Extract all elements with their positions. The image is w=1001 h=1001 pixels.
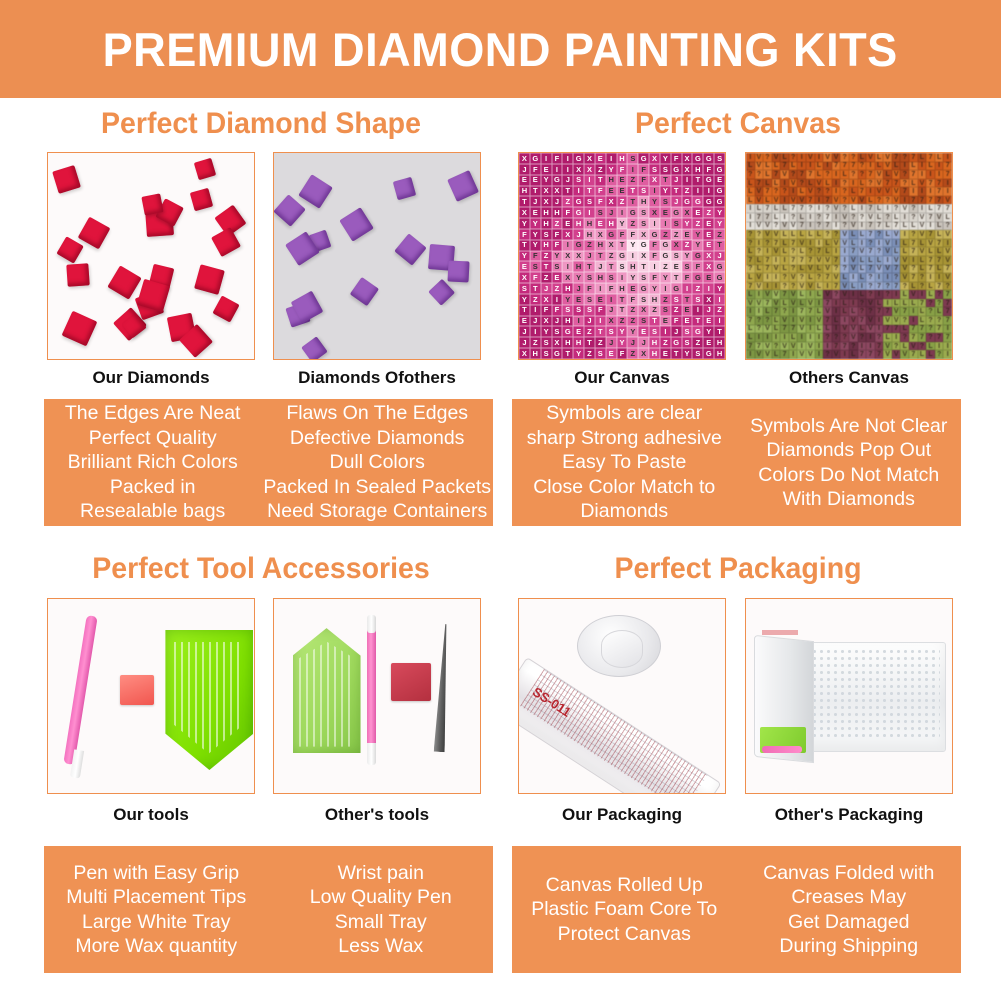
canvas-symbol-cell: H xyxy=(541,207,552,218)
canvas-symbol-cell: E xyxy=(714,175,725,186)
canvas-symbol-cell: E xyxy=(703,229,714,240)
canvas-symbol-cell: 7 xyxy=(900,187,909,196)
canvas-symbol-cell: H xyxy=(584,229,595,240)
canvas-symbol-cell: F xyxy=(530,272,541,283)
canvas-symbol-cell: ? xyxy=(806,247,815,256)
canvas-symbol-cell: I xyxy=(935,273,944,282)
canvas-symbol-cell: X xyxy=(541,186,552,197)
canvas-symbol-cell: E xyxy=(595,294,606,305)
canvas-symbol-cell: S xyxy=(617,261,628,272)
canvas-symbol-cell: Z xyxy=(660,337,671,348)
canvas-symbol-cell: G xyxy=(692,251,703,262)
canvas-symbol-cell: V xyxy=(755,162,764,171)
canvas-symbol-cell: L xyxy=(797,290,806,299)
canvas-symbol-cell: V xyxy=(780,342,789,351)
canvas-symbol-cell: Y xyxy=(682,218,693,229)
our-tools-photo xyxy=(47,598,255,794)
canvas-symbol-cell: 7 xyxy=(815,247,824,256)
canvas-symbol-cell: X xyxy=(519,348,530,359)
canvas-symbol-cell: L xyxy=(849,204,858,213)
canvas-symbol-cell: I xyxy=(943,325,952,334)
canvas-symbol-cell: Z xyxy=(627,175,638,186)
canvas-symbol-cell: 7 xyxy=(849,162,858,171)
canvas-symbol-cell: I xyxy=(530,305,541,316)
our-canvas-photo: XGIFIGXEIHSGXYFXGGSJFEIIXXZYFIFSSGXHFGEE… xyxy=(518,152,726,360)
canvas-symbol-cell: ? xyxy=(900,316,909,325)
canvas-symbol-cell: T xyxy=(519,240,530,251)
panel-col-others-canvas: Symbols Are Not ClearDiamonds Pop OutCol… xyxy=(737,399,962,526)
canvas-symbol-cell: I xyxy=(797,162,806,171)
canvas-symbol-cell: V xyxy=(849,265,858,274)
canvas-symbol-cell: Y xyxy=(682,348,693,359)
canvas-symbol-cell: I xyxy=(900,196,909,205)
canvas-symbol-cell: ? xyxy=(858,333,867,342)
canvas-symbol-cell: L xyxy=(815,282,824,291)
canvas-symbol-cell: I xyxy=(780,213,789,222)
canvas-symbol-cell: X xyxy=(638,305,649,316)
canvas-symbol-cell: Z xyxy=(649,305,660,316)
canvas-symbol-cell: S xyxy=(638,186,649,197)
canvas-symbol-cell: ? xyxy=(866,307,875,316)
canvas-symbol-cell: L xyxy=(780,204,789,213)
canvas-symbol-cell: V xyxy=(875,265,884,274)
canvas-symbol-cell: I xyxy=(918,170,927,179)
canvas-symbol-cell: F xyxy=(595,196,606,207)
canvas-symbol-cell: L xyxy=(823,179,832,188)
canvas-symbol-cell: I xyxy=(918,290,927,299)
canvas-symbol-cell: I xyxy=(832,179,841,188)
canvas-symbol-cell: 7 xyxy=(943,333,952,342)
canvas-symbol-cell: ? xyxy=(900,333,909,342)
canvas-symbol-cell: 7 xyxy=(935,187,944,196)
canvas-symbol-cell: I xyxy=(772,256,781,265)
canvas-symbol-cell: S xyxy=(638,316,649,327)
wax-square xyxy=(391,663,431,701)
canvas-symbol-cell: 7 xyxy=(746,256,755,265)
canvas-symbol-cell: Y xyxy=(530,229,541,240)
canvas-symbol-cell: X xyxy=(573,164,584,175)
canvas-symbol-cell: 7 xyxy=(935,204,944,213)
canvas-symbol-cell: V xyxy=(806,187,815,196)
canvas-symbol-cell: I xyxy=(530,326,541,337)
panel-line: Need Storage Containers xyxy=(267,499,487,524)
canvas-symbol-cell: 7 xyxy=(909,273,918,282)
canvas-symbol-cell: ? xyxy=(866,290,875,299)
caption-others-diamonds: Diamonds Ofothers xyxy=(273,368,481,388)
canvas-symbol-cell: F xyxy=(627,229,638,240)
canvas-symbol-cell: L xyxy=(918,316,927,325)
canvas-symbol-cell: V xyxy=(806,282,815,291)
canvas-symbol-cell: X xyxy=(703,251,714,262)
canvas-symbol-cell: J xyxy=(573,283,584,294)
canvas-symbol-cell: E xyxy=(562,218,573,229)
canvas-symbol-cell: T xyxy=(649,316,660,327)
canvas-symbol-cell: ? xyxy=(875,333,884,342)
canvas-symbol-cell: H xyxy=(714,337,725,348)
panel-line: Brilliant Rich Colors xyxy=(68,450,238,475)
canvas-symbol-cell: I xyxy=(858,239,867,248)
canvas-symbol-cell: H xyxy=(573,261,584,272)
canvas-symbol-cell: F xyxy=(552,229,563,240)
canvas-symbol-cell: I xyxy=(943,179,952,188)
canvas-symbol-cell: ? xyxy=(780,273,789,282)
canvas-symbol-cell: S xyxy=(660,164,671,175)
canvas-symbol-cell: E xyxy=(671,261,682,272)
canvas-symbol-cell: V xyxy=(755,187,764,196)
canvas-symbol-cell: L xyxy=(918,265,927,274)
canvas-symbol-cell: 7 xyxy=(918,196,927,205)
canvas-symbol-cell: V xyxy=(789,196,798,205)
canvas-symbol-cell: L xyxy=(883,170,892,179)
canvas-symbol-cell: V xyxy=(755,282,764,291)
canvas-symbol-cell: H xyxy=(649,337,660,348)
canvas-symbol-cell: J xyxy=(714,251,725,262)
canvas-symbol-cell: V xyxy=(892,196,901,205)
canvas-symbol-cell: V xyxy=(900,256,909,265)
canvas-symbol-cell: V xyxy=(918,213,927,222)
canvas-symbol-cell: I xyxy=(875,316,884,325)
canvas-symbol-cell: I xyxy=(935,162,944,171)
diamond-bead xyxy=(211,227,241,257)
canvas-symbol-cell: 7 xyxy=(943,299,952,308)
canvas-symbol-cell: V xyxy=(840,282,849,291)
canvas-symbol-cell: I xyxy=(606,294,617,305)
canvas-symbol-cell: F xyxy=(552,305,563,316)
canvas-symbol-cell: ? xyxy=(832,265,841,274)
canvas-symbol-cell: ? xyxy=(797,179,806,188)
canvas-symbol-cell: G xyxy=(703,196,714,207)
canvas-symbol-cell: V xyxy=(866,299,875,308)
canvas-symbol-cell: I xyxy=(746,350,755,359)
canvas-symbol-cell: G xyxy=(627,207,638,218)
canvas-symbol-cell: ? xyxy=(849,153,858,162)
canvas-symbol-cell: 7 xyxy=(763,204,772,213)
canvas-symbol-cell: V xyxy=(900,350,909,359)
canvas-symbol-cell: I xyxy=(772,282,781,291)
caption-our-canvas: Our Canvas xyxy=(518,368,726,388)
diamond-bead xyxy=(195,264,225,294)
canvas-symbol-cell: 7 xyxy=(875,222,884,231)
canvas-symbol-cell: Z xyxy=(682,186,693,197)
canvas-symbol-cell: 7 xyxy=(823,299,832,308)
canvas-symbol-cell: J xyxy=(595,261,606,272)
canvas-symbol-cell: L xyxy=(883,230,892,239)
panel-diamond-shape: The Edges Are NeatPerfect QualityBrillia… xyxy=(44,399,493,526)
canvas-symbol-cell: I xyxy=(866,333,875,342)
canvas-symbol-cell: Z xyxy=(595,337,606,348)
diamond-bead xyxy=(66,263,89,286)
diamond-bead xyxy=(190,188,214,212)
canvas-symbol-cell: 7 xyxy=(780,162,789,171)
canvas-symbol-cell: Y xyxy=(519,218,530,229)
canvas-symbol-cell: E xyxy=(682,316,693,327)
canvas-symbol-cell: ? xyxy=(909,204,918,213)
canvas-symbol-cell: S xyxy=(541,348,552,359)
canvas-symbol-cell: E xyxy=(595,218,606,229)
canvas-symbol-cell: ? xyxy=(883,290,892,299)
canvas-symbol-cell: Z xyxy=(682,240,693,251)
canvas-symbol-cell: T xyxy=(660,175,671,186)
canvas-symbol-cell: I xyxy=(746,153,755,162)
canvas-symbol-cell: I xyxy=(627,164,638,175)
canvas-symbol-cell: V xyxy=(858,196,867,205)
canvas-symbol-cell: I xyxy=(858,342,867,351)
canvas-symbol-cell: I xyxy=(943,239,952,248)
canvas-symbol-cell: ? xyxy=(789,153,798,162)
canvas-symbol-cell: V xyxy=(823,265,832,274)
canvas-symbol-cell: V xyxy=(755,222,764,231)
panel-line: Canvas Rolled Up xyxy=(546,873,703,898)
canvas-symbol-cell: V xyxy=(780,222,789,231)
canvas-symbol-cell: V xyxy=(815,316,824,325)
canvas-symbol-cell: Z xyxy=(552,218,563,229)
canvas-symbol-cell: V xyxy=(900,265,909,274)
canvas-symbol-cell: I xyxy=(660,218,671,229)
canvas-symbol-cell: L xyxy=(797,213,806,222)
canvas-symbol-cell: V xyxy=(849,196,858,205)
canvas-symbol-cell: H xyxy=(562,337,573,348)
canvas-symbol-cell: E xyxy=(682,229,693,240)
canvas-symbol-cell: L xyxy=(858,230,867,239)
canvas-symbol-cell: I xyxy=(935,342,944,351)
canvas-symbol-cell: I xyxy=(943,153,952,162)
canvas-symbol-cell: Z xyxy=(660,294,671,305)
canvas-symbol-cell: 7 xyxy=(823,213,832,222)
canvas-symbol-cell: G xyxy=(530,153,541,164)
canvas-symbol-cell: I xyxy=(840,350,849,359)
canvas-symbol-cell: 7 xyxy=(909,247,918,256)
canvas-symbol-cell: 7 xyxy=(823,222,832,231)
canvas-symbol-cell: 7 xyxy=(780,325,789,334)
canvas-symbol-cell: H xyxy=(595,240,606,251)
panel-line: Large White Tray xyxy=(82,910,230,935)
canvas-symbol-cell: L xyxy=(755,256,764,265)
others-diamonds-photo xyxy=(273,152,481,360)
canvas-symbol-cell: 7 xyxy=(926,230,935,239)
canvas-symbol-cell: V xyxy=(943,247,952,256)
canvas-symbol-cell: L xyxy=(858,179,867,188)
canvas-symbol-cell: L xyxy=(815,325,824,334)
page-title: PREMIUM DIAMOND PAINTING KITS xyxy=(103,22,898,77)
canvas-symbol-cell: I xyxy=(562,153,573,164)
canvas-symbol-cell: 7 xyxy=(909,325,918,334)
canvas-symbol-cell: I xyxy=(840,316,849,325)
canvas-symbol-cell: ? xyxy=(858,307,867,316)
canvas-symbol-cell: G xyxy=(692,326,703,337)
canvas-symbol-cell: F xyxy=(703,164,714,175)
canvas-symbol-cell: L xyxy=(823,325,832,334)
canvas-symbol-cell: L xyxy=(935,222,944,231)
canvas-symbol-cell: T xyxy=(692,316,703,327)
canvas-symbol-cell: J xyxy=(519,326,530,337)
canvas-symbol-cell: L xyxy=(935,247,944,256)
canvas-symbol-cell: I xyxy=(541,153,552,164)
canvas-symbol-cell: J xyxy=(606,207,617,218)
canvas-symbol-cell: L xyxy=(900,290,909,299)
canvas-symbol-cell: V xyxy=(772,265,781,274)
pen-tip xyxy=(367,615,376,633)
canvas-symbol-cell: I xyxy=(763,333,772,342)
canvas-symbol-cell: ? xyxy=(875,247,884,256)
canvas-symbol-cell: G xyxy=(703,153,714,164)
canvas-symbol-cell: X xyxy=(606,196,617,207)
canvas-symbol-cell: ? xyxy=(797,273,806,282)
canvas-symbol-cell: 7 xyxy=(943,290,952,299)
canvas-symbol-cell: G xyxy=(552,175,563,186)
canvas-symbol-cell: X xyxy=(552,186,563,197)
canvas-symbol-cell: I xyxy=(875,273,884,282)
diamond-bead xyxy=(339,207,373,241)
panel-line: Small Tray xyxy=(335,910,427,935)
page-header: PREMIUM DIAMOND PAINTING KITS xyxy=(0,0,1001,98)
canvas-symbol-cell: J xyxy=(627,337,638,348)
canvas-symbol-cell: G xyxy=(638,283,649,294)
canvas-symbol-cell: ? xyxy=(909,213,918,222)
canvas-symbol-cell: I xyxy=(900,162,909,171)
panel-col-our-diamonds: The Edges Are NeatPerfect QualityBrillia… xyxy=(44,399,261,526)
canvas-symbol-cell: L xyxy=(815,307,824,316)
canvas-symbol-cell: 7 xyxy=(858,316,867,325)
canvas-symbol-cell: 7 xyxy=(892,265,901,274)
canvas-symbol-cell: I xyxy=(918,162,927,171)
canvas-symbol-cell: 7 xyxy=(780,290,789,299)
canvas-symbol-cell: 7 xyxy=(763,256,772,265)
canvas-symbol-cell: V xyxy=(755,299,764,308)
canvas-symbol-cell: L xyxy=(926,247,935,256)
canvas-symbol-cell: L xyxy=(909,222,918,231)
canvas-symbol-cell: 7 xyxy=(935,179,944,188)
others-tools-photo xyxy=(273,598,481,794)
diamond-bead xyxy=(194,158,217,181)
canvas-symbol-cell: X xyxy=(562,229,573,240)
canvas-symbol-cell: ? xyxy=(840,204,849,213)
canvas-symbol-cell: S xyxy=(530,261,541,272)
canvas-symbol-cell: L xyxy=(806,230,815,239)
canvas-symbol-cell: X xyxy=(682,153,693,164)
canvas-symbol-cell: L xyxy=(772,325,781,334)
canvas-symbol-cell: G xyxy=(692,153,703,164)
canvas-symbol-cell: 7 xyxy=(823,316,832,325)
canvas-symbol-cell: V xyxy=(797,350,806,359)
canvas-symbol-cell: I xyxy=(815,333,824,342)
canvas-symbol-cell: L xyxy=(900,325,909,334)
canvas-symbol-cell: V xyxy=(755,153,764,162)
canvas-symbol-cell: I xyxy=(832,325,841,334)
canvas-symbol-cell: L xyxy=(755,204,764,213)
diamond-pen xyxy=(63,615,97,765)
canvas-symbol-cell: X xyxy=(671,240,682,251)
canvas-symbol-cell: L xyxy=(918,256,927,265)
canvas-symbol-cell: I xyxy=(573,316,584,327)
canvas-symbol-cell: L xyxy=(883,222,892,231)
canvas-symbol-cell: Y xyxy=(714,218,725,229)
canvas-symbol-cell: I xyxy=(926,273,935,282)
canvas-symbol-cell: T xyxy=(530,283,541,294)
canvas-symbol-cell: ? xyxy=(823,187,832,196)
canvas-symbol-cell: L xyxy=(943,213,952,222)
canvas-symbol-cell: V xyxy=(900,273,909,282)
canvas-symbol-cell: V xyxy=(849,333,858,342)
canvas-symbol-cell: I xyxy=(832,187,841,196)
canvas-symbol-cell: Y xyxy=(649,196,660,207)
canvas-symbol-cell: L xyxy=(918,239,927,248)
canvas-symbol-cell: F xyxy=(638,175,649,186)
canvas-symbol-cell: I xyxy=(883,204,892,213)
canvas-symbol-cell: I xyxy=(660,326,671,337)
canvas-symbol-cell: Z xyxy=(714,305,725,316)
canvas-symbol-cell: 7 xyxy=(866,350,875,359)
canvas-symbol-cell: L xyxy=(780,153,789,162)
canvas-symbol-cell: L xyxy=(789,230,798,239)
canvas-symbol-cell: Z xyxy=(660,261,671,272)
canvas-symbol-cell: Z xyxy=(606,251,617,262)
canvas-symbol-cell: ? xyxy=(815,222,824,231)
diamond-bead xyxy=(394,233,426,265)
canvas-symbol-cell: 7 xyxy=(875,350,884,359)
canvas-symbol-cell: I xyxy=(849,299,858,308)
canvas-symbol-cell: S xyxy=(692,348,703,359)
canvas-symbol-cell: L xyxy=(806,179,815,188)
canvas-symbol-cell: F xyxy=(617,229,628,240)
canvas-symbol-cell: G xyxy=(617,251,628,262)
canvas-symbol-cell: I xyxy=(943,350,952,359)
canvas-symbol-cell: F xyxy=(692,261,703,272)
canvas-symbol-cell: V xyxy=(763,350,772,359)
canvas-symbol-cell: X xyxy=(703,294,714,305)
canvas-symbol-cell: 7 xyxy=(926,179,935,188)
canvas-symbol-cell: X xyxy=(541,316,552,327)
canvas-symbol-cell: Y xyxy=(552,251,563,262)
canvas-symbol-cell: E xyxy=(638,326,649,337)
canvas-symbol-cell: V xyxy=(772,247,781,256)
canvas-symbol-cell: 7 xyxy=(935,325,944,334)
canvas-symbol-cell: F xyxy=(682,272,693,283)
canvas-symbol-cell: S xyxy=(714,153,725,164)
canvas-symbol-cell: G xyxy=(649,229,660,240)
caption-our-packaging: Our Packaging xyxy=(518,805,726,825)
canvas-symbol-cell: L xyxy=(918,307,927,316)
diamond-bead xyxy=(77,216,110,249)
diamond-bead xyxy=(108,266,142,300)
canvas-symbol-cell: L xyxy=(746,333,755,342)
canvas-symbol-cell: ? xyxy=(866,273,875,282)
canvas-symbol-cell: V xyxy=(875,170,884,179)
panel-line: Defective Diamonds xyxy=(290,426,465,451)
canvas-symbol-cell: I xyxy=(627,251,638,262)
canvas-symbol-cell: I xyxy=(815,299,824,308)
canvas-symbol-cell: E xyxy=(660,207,671,218)
canvas-symbol-cell: X xyxy=(595,229,606,240)
canvas-symbol-cell: T xyxy=(519,305,530,316)
canvas-symbol-cell: 7 xyxy=(892,153,901,162)
canvas-symbol-cell: L xyxy=(935,153,944,162)
canvas-symbol-cell: I xyxy=(789,350,798,359)
canvas-symbol-cell: V xyxy=(772,153,781,162)
canvas-symbol-cell: L xyxy=(900,299,909,308)
canvas-symbol-cell: T xyxy=(530,186,541,197)
panel-line: Multi Placement Tips xyxy=(66,885,246,910)
canvas-symbol-cell: ? xyxy=(806,204,815,213)
canvas-symbol-cell: L xyxy=(823,239,832,248)
canvas-symbol-cell: 7 xyxy=(875,307,884,316)
canvas-symbol-cell: I xyxy=(926,187,935,196)
canvas-symbol-cell: L xyxy=(935,307,944,316)
canvas-symbol-cell: I xyxy=(806,239,815,248)
canvas-symbol-cell: 7 xyxy=(883,179,892,188)
canvas-symbol-cell: ? xyxy=(789,213,798,222)
canvas-symbol-cell: 7 xyxy=(832,342,841,351)
canvas-symbol-cell: F xyxy=(584,283,595,294)
